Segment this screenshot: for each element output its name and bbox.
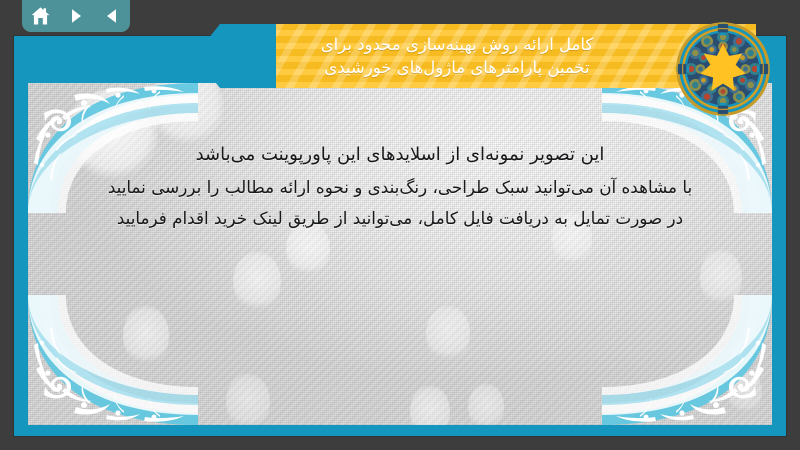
bokeh-circle [426,305,470,363]
persian-medallion-ornament-icon [676,22,770,116]
slide-title-band: کامل ارائه روش بهینه‌سازی محدود برای تخم… [196,24,756,88]
previous-slide-button[interactable] [101,5,123,27]
bokeh-circle [233,251,281,313]
next-slide-button[interactable] [65,5,87,27]
home-button[interactable] [29,5,51,27]
bokeh-circle [123,305,169,367]
arrow-right-icon [66,6,86,26]
home-icon [30,6,51,27]
slide-viewer: این تصویر نمونه‌ای از اسلایدهای این پاور… [0,0,800,450]
slide-body-text: این تصویر نمونه‌ای از اسلایدهای این پاور… [42,140,758,236]
body-line-2: با مشاهده آن می‌توانید سبک طراحی، رنگ‌بن… [42,173,758,201]
navigation-bar [22,0,130,32]
bokeh-circle [410,385,450,425]
page-title: کامل ارائه روش بهینه‌سازی محدود برای تخم… [196,24,756,88]
body-line-3: در صورت تمایل به دریافت فایل کامل، می‌تو… [42,204,758,232]
slide-canvas [28,83,772,425]
bokeh-circle [700,249,742,307]
body-line-1: این تصویر نمونه‌ای از اسلایدهای این پاور… [42,140,758,170]
slide-frame: این تصویر نمونه‌ای از اسلایدهای این پاور… [14,36,786,436]
arrow-left-icon [102,6,122,26]
title-line-1: کامل ارائه روش بهینه‌سازی محدود برای [321,33,594,56]
bokeh-circle [148,83,224,145]
bokeh-circle [728,369,762,415]
bokeh-circle [226,373,270,425]
bokeh-circle [468,383,504,425]
title-line-2: تخمین پارامترهای ماژول‌های خورشیدی [324,56,589,79]
